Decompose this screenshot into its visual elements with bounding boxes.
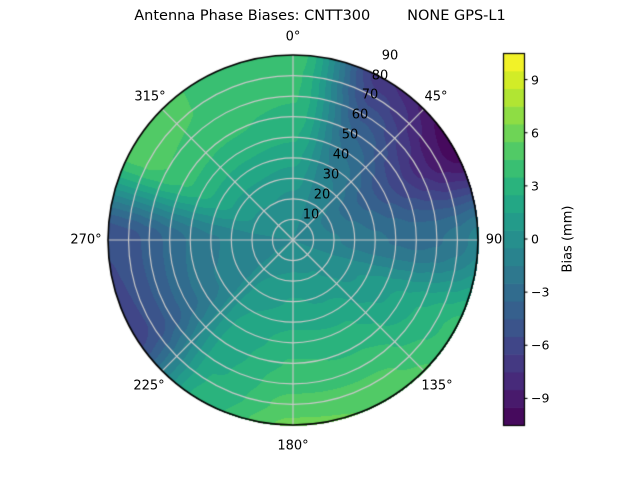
polar-contour-plot[interactable] — [0, 0, 640, 480]
figure-canvas-container: Antenna Phase Biases: CNTT300 NONE GPS-L… — [0, 0, 640, 480]
